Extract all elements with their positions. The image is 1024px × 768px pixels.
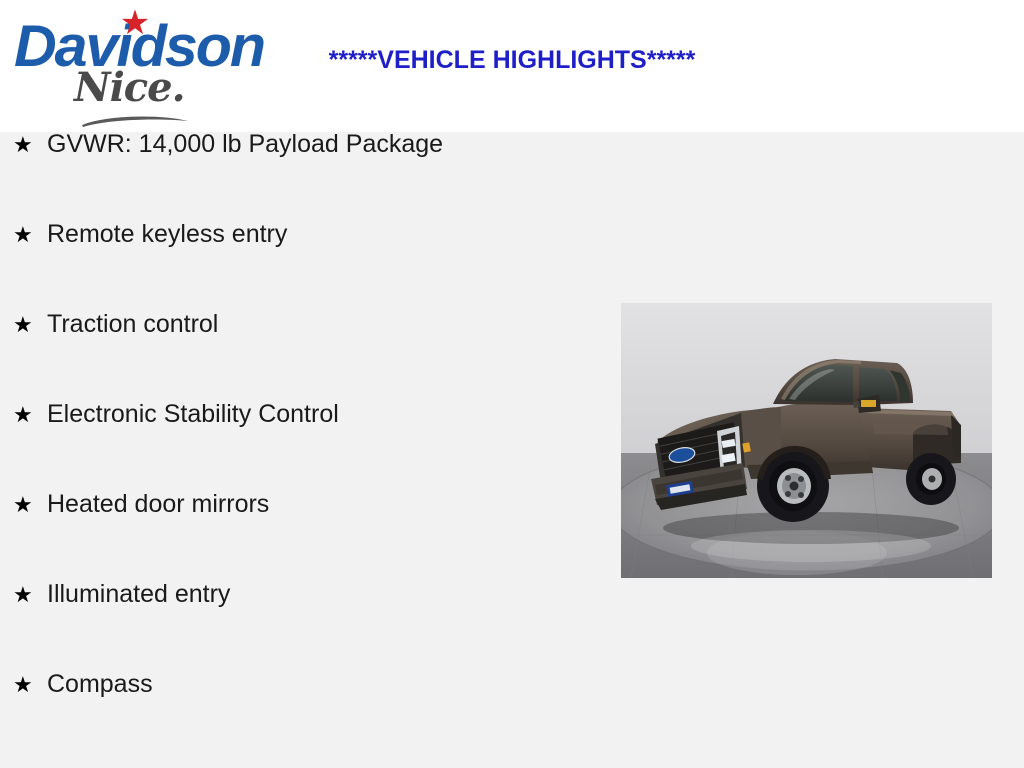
- star-bullet-icon: ★: [13, 494, 47, 516]
- page-title: *****VEHICLE HIGHLIGHTS*****: [0, 48, 1024, 73]
- vehicle-photo[interactable]: [621, 303, 992, 578]
- list-item: ★ Illuminated entry: [0, 582, 600, 672]
- star-bullet-icon: ★: [13, 404, 47, 426]
- star-bullet-icon: ★: [13, 224, 47, 246]
- red-star-icon: ★: [118, 8, 152, 38]
- list-item-label: Electronic Stability Control: [47, 402, 600, 427]
- list-item: ★ Compass: [0, 672, 600, 762]
- logo-swoosh-icon: [80, 114, 190, 128]
- vehicle-highlights-list: ★ GVWR: 14,000 lb Payload Package ★ Remo…: [0, 132, 600, 762]
- list-item-label: Heated door mirrors: [47, 492, 600, 517]
- star-bullet-icon: ★: [13, 584, 47, 606]
- list-item-label: Illuminated entry: [47, 582, 600, 607]
- list-item: ★ Electronic Stability Control: [0, 402, 600, 492]
- star-bullet-icon: ★: [13, 314, 47, 336]
- list-item-label: GVWR: 14,000 lb Payload Package: [47, 132, 600, 157]
- list-item-label: Remote keyless entry: [47, 222, 600, 247]
- list-item: ★ GVWR: 14,000 lb Payload Package: [0, 132, 600, 222]
- vehicle-photo-illustration: [621, 303, 992, 578]
- logo-script-nice: Nice.: [74, 68, 185, 108]
- list-item-label: Traction control: [47, 312, 600, 337]
- list-item: ★ Remote keyless entry: [0, 222, 600, 312]
- star-bullet-icon: ★: [13, 674, 47, 696]
- list-item: ★ Traction control: [0, 312, 600, 402]
- star-bullet-icon: ★: [13, 134, 47, 156]
- list-item-label: Compass: [47, 672, 600, 697]
- list-item: ★ Heated door mirrors: [0, 492, 600, 582]
